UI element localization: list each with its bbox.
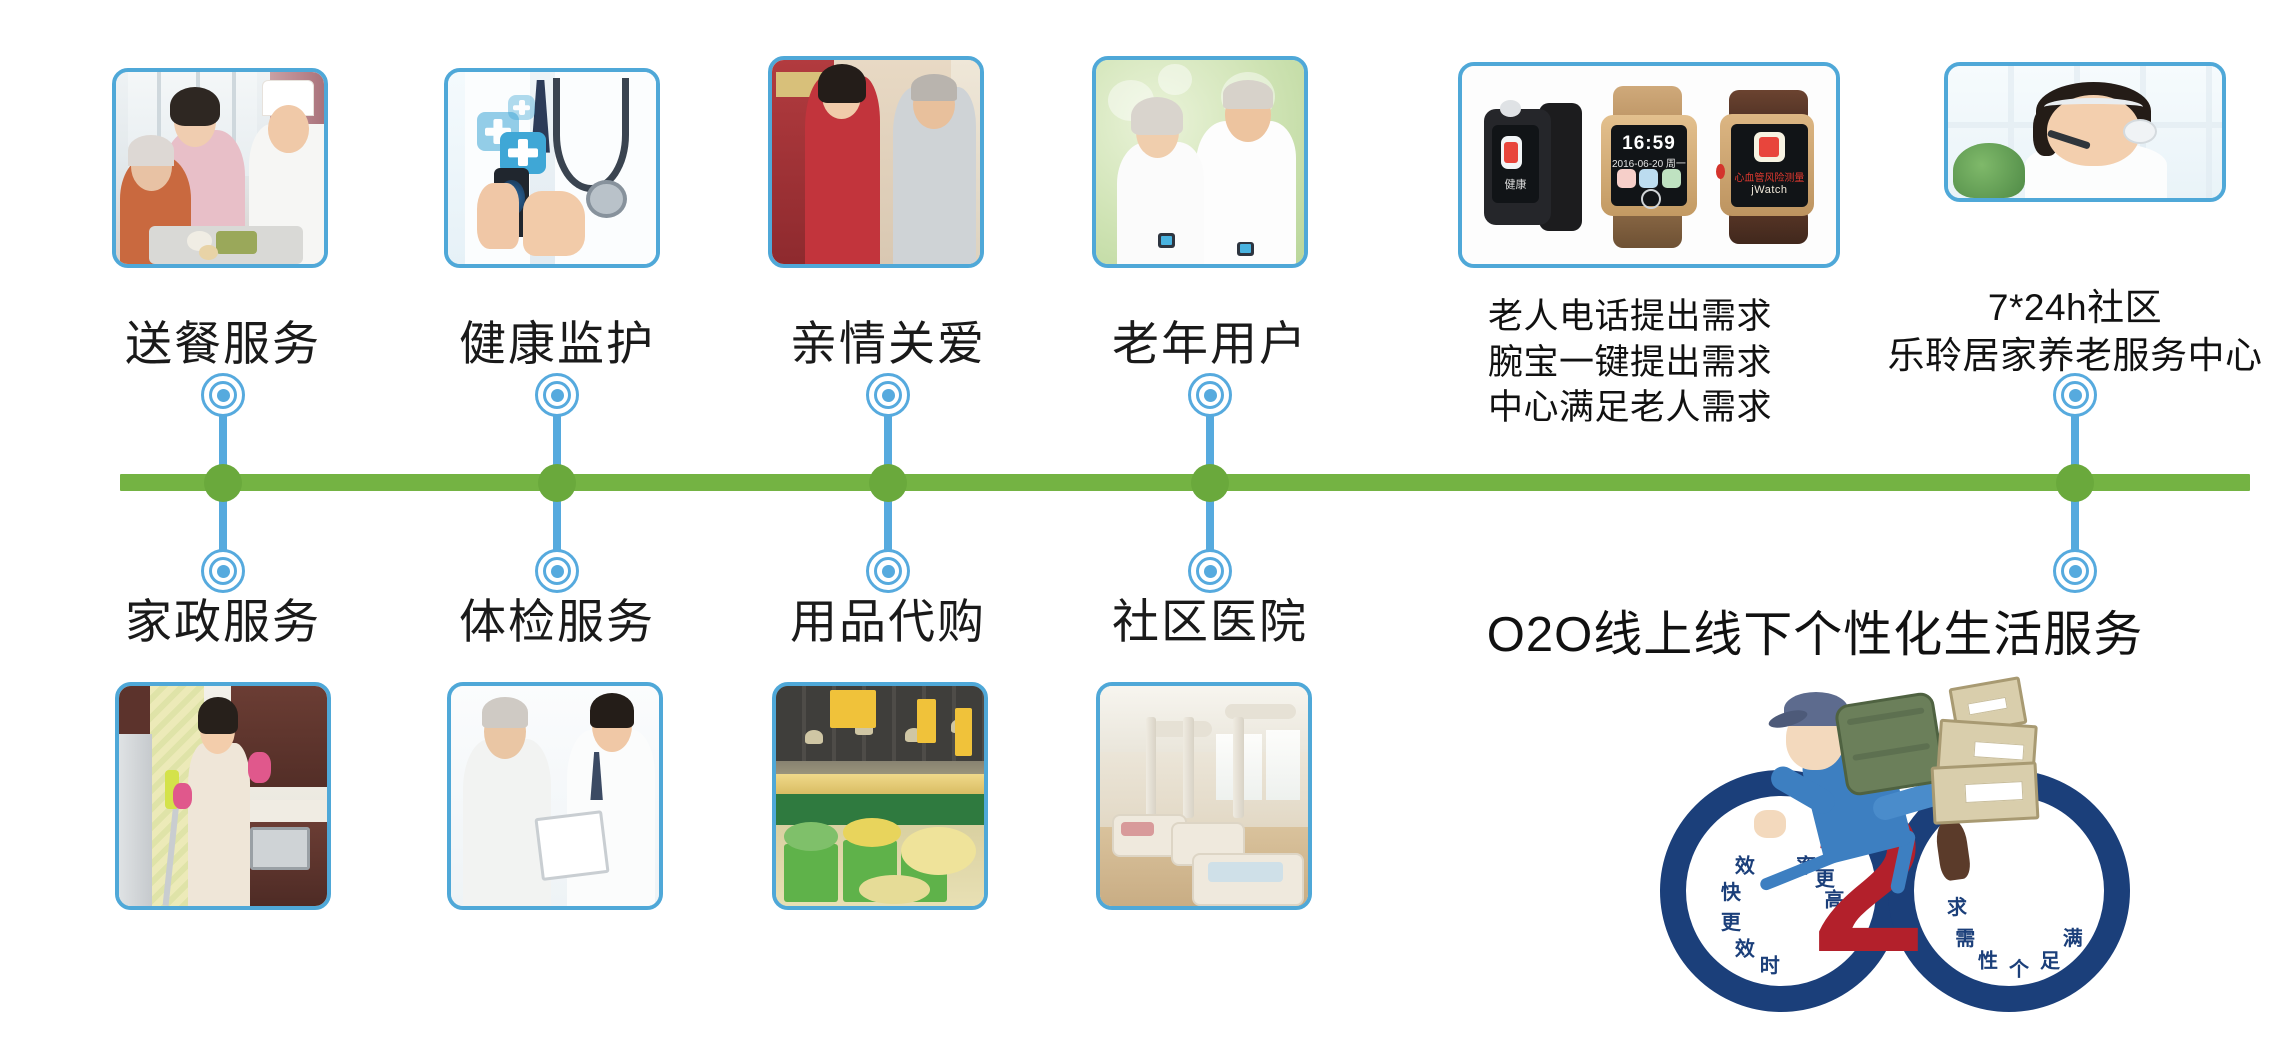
watch-brand: jWatch <box>1731 184 1807 196</box>
request-flow-line-1: 老人电话提出需求 <box>1488 294 1772 340</box>
node-4-bottom-label: 社区医院 <box>1112 598 1308 645</box>
watch-left-caption: 健康 <box>1492 176 1539 192</box>
smartwatch-black: 健康 <box>1484 98 1581 237</box>
smartwatch-photo: 健康 16:59 2016-06-20 周一 <box>1458 62 1840 268</box>
o2o-title: O2O线上线下个性化生活服务 <box>1487 595 2143 666</box>
o2o-logo: 时 效 更 快 效 率 更 高 满 足 个 性 需 求 2 <box>1660 660 2080 980</box>
rider-backpack <box>1833 691 1946 798</box>
health-monitoring-photo <box>444 68 660 268</box>
timeline-axis <box>120 474 2250 491</box>
meal-delivery-photo <box>112 68 328 268</box>
family-care-photo <box>768 56 984 268</box>
node-5-top-marker[interactable] <box>2053 373 2097 417</box>
wrist-watch <box>1158 233 1175 247</box>
node-5-bottom-marker[interactable] <box>2053 549 2097 593</box>
node-2-bottom-label: 体检服务 <box>459 598 655 645</box>
watch-time: 16:59 <box>1611 133 1686 155</box>
node-4-axis-dot <box>1191 464 1229 502</box>
checkup-photo <box>447 682 663 910</box>
phone-app-icon <box>1639 169 1658 188</box>
node-4-bottom-marker[interactable] <box>1188 549 1232 593</box>
node-3-bottom-marker[interactable] <box>866 549 910 593</box>
node-2-top-marker[interactable] <box>535 373 579 417</box>
node-1-bottom-label: 家政服务 <box>125 598 321 645</box>
node-1-axis-dot <box>204 464 242 502</box>
node-1-top-label: 送餐服务 <box>125 320 321 367</box>
housekeeping-photo <box>115 682 331 910</box>
request-flow-line-2: 腕宝一键提出需求 <box>1488 340 1772 386</box>
node-1-top-marker[interactable] <box>201 373 245 417</box>
smartwatch-brown: 心血管风险测量 jWatch <box>1709 90 1821 244</box>
health-app-icon <box>1617 169 1636 188</box>
parcel-box-bottom <box>1931 761 2040 824</box>
smartwatch-gold: 16:59 2016-06-20 周一 <box>1597 86 1702 248</box>
supermarket-photo <box>772 682 988 910</box>
wrist-watch <box>1237 242 1254 256</box>
node-4-top-marker[interactable] <box>1188 373 1232 417</box>
watch-right-caption: 心血管风险测量 <box>1731 169 1807 184</box>
node-1-bottom-marker[interactable] <box>201 549 245 593</box>
infographic-canvas: 健康 16:59 2016-06-20 周一 <box>0 0 2293 1045</box>
service-center-line-1: 7*24h社区 <box>1888 284 2263 332</box>
bag-app-icon <box>1662 169 1681 188</box>
hospital-ward-photo <box>1096 682 1312 910</box>
request-flow-line-3: 中心满足老人需求 <box>1488 385 1772 431</box>
node-3-axis-dot <box>869 464 907 502</box>
node-3-top-marker[interactable] <box>866 373 910 417</box>
headset-band <box>2044 98 2143 116</box>
watch-date: 2016-06-20 周一 <box>1611 155 1686 170</box>
node-2-axis-dot <box>538 464 576 502</box>
medical-cross-icon <box>508 95 535 120</box>
node-3-top-label: 亲情关爱 <box>790 320 986 367</box>
node-3-bottom-label: 用品代购 <box>790 598 986 645</box>
node-2-bottom-marker[interactable] <box>535 549 579 593</box>
node-2-top-label: 健康监护 <box>459 320 655 367</box>
service-center-text: 7*24h社区 乐聆居家养老服务中心 <box>1888 284 2263 380</box>
elderly-users-photo <box>1092 56 1308 268</box>
call-center-photo <box>1944 62 2226 202</box>
request-flow-text: 老人电话提出需求 腕宝一键提出需求 中心满足老人需求 <box>1488 294 1772 431</box>
rider-hand <box>1754 810 1786 838</box>
node-5-axis-dot <box>2056 464 2094 502</box>
node-4-top-label: 老年用户 <box>1112 320 1308 367</box>
